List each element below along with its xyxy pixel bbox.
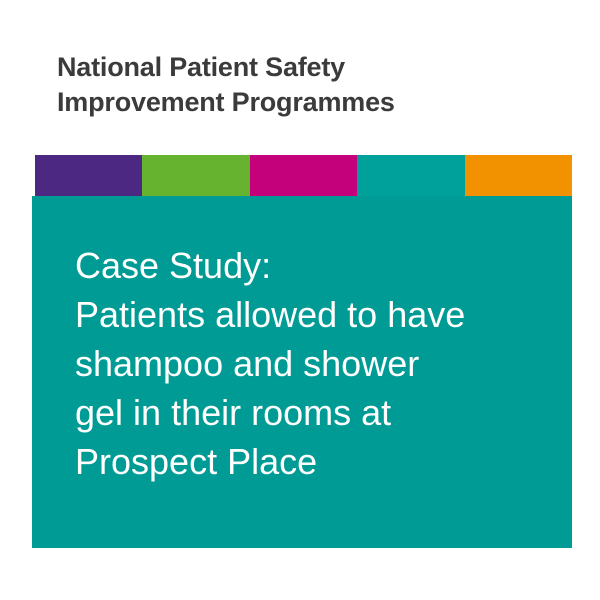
page-title: National Patient Safety Improvement Prog… [57, 50, 577, 120]
case-study-slide: National Patient Safety Improvement Prog… [0, 0, 600, 600]
colour-swatch-orange [465, 155, 572, 196]
colour-swatch-teal [357, 155, 464, 196]
case-study-heading: Case Study: Patients allowed to have sha… [75, 241, 545, 486]
case-study-panel: Case Study: Patients allowed to have sha… [32, 196, 572, 548]
colour-swatch-green [142, 155, 249, 196]
colour-swatch-magenta [250, 155, 357, 196]
colour-swatch-purple [35, 155, 142, 196]
brand-colour-bar [35, 155, 572, 196]
